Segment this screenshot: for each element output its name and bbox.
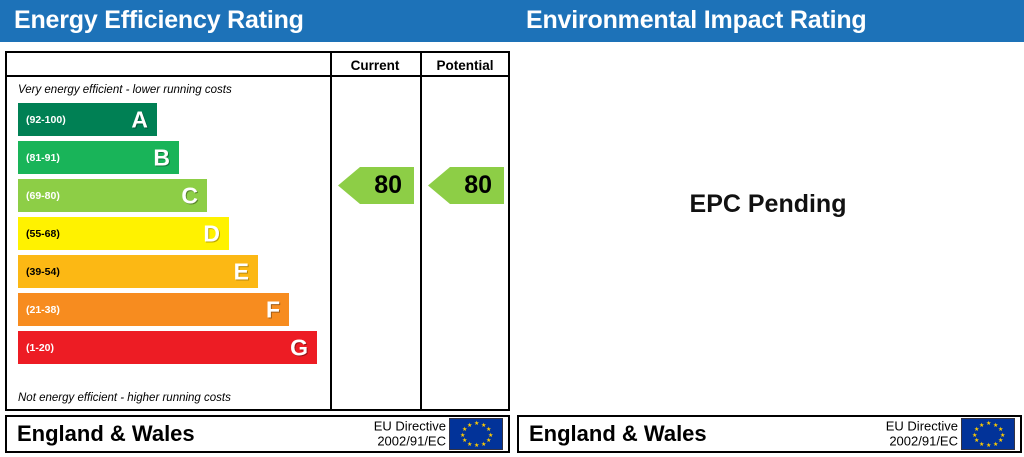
current-rating-arrow: 80 — [338, 167, 414, 204]
band-letter-c: C — [181, 184, 198, 207]
directive-line-1: EU Directive — [374, 419, 446, 434]
environmental-impact-panel: Environmental Impact Rating EPC Pending … — [512, 0, 1024, 457]
band-letter-e: E — [234, 260, 249, 283]
potential-rating-arrow: 80 — [428, 167, 504, 204]
column-header-current: Current — [330, 56, 420, 76]
footer-region-label-right: England & Wales — [529, 421, 707, 447]
band-range-b: (81-91) — [26, 152, 60, 164]
band-range-f: (21-38) — [26, 304, 60, 316]
eu-flag-icon: ★ ★ ★ ★ ★ ★ ★ ★ ★ ★ ★ ★ — [449, 418, 503, 450]
epc-certificate-graphic: Energy Efficiency Rating Current Potenti… — [0, 0, 1024, 457]
footer-region-label-left: England & Wales — [17, 421, 195, 447]
band-range-a: (92-100) — [26, 114, 66, 126]
energy-efficiency-header: Energy Efficiency Rating — [0, 0, 512, 42]
band-letter-b: B — [153, 146, 170, 169]
band-row-e: (39-54) E — [18, 255, 258, 288]
band-letter-a: A — [131, 108, 148, 131]
eu-flag-icon: ★ ★ ★ ★ ★ ★ ★ ★ ★ ★ ★ ★ — [961, 418, 1015, 450]
band-range-d: (55-68) — [26, 228, 60, 240]
band-letter-g: G — [290, 336, 308, 359]
environmental-impact-title: Environmental Impact Rating — [526, 6, 867, 35]
environmental-impact-header: Environmental Impact Rating — [512, 0, 1024, 42]
chart-divider-current — [330, 53, 332, 409]
directive-line-2: 2002/91/EC — [374, 434, 446, 449]
column-header-potential: Potential — [420, 56, 510, 76]
directive-line-1: EU Directive — [886, 419, 958, 434]
band-row-c: (69-80) C — [18, 179, 207, 212]
band-row-b: (81-91) B — [18, 141, 179, 174]
band-row-f: (21-38) F — [18, 293, 289, 326]
band-range-g: (1-20) — [26, 342, 54, 354]
footer-directive-right: EU Directive 2002/91/EC — [886, 419, 958, 448]
caption-not-efficient: Not energy efficient - higher running co… — [18, 392, 231, 404]
energy-efficiency-panel: Energy Efficiency Rating Current Potenti… — [0, 0, 512, 457]
band-letter-d: D — [203, 222, 220, 245]
footer-directive-left: EU Directive 2002/91/EC — [374, 419, 446, 448]
band-row-g: (1-20) G — [18, 331, 317, 364]
band-row-d: (55-68) D — [18, 217, 229, 250]
energy-efficiency-footer: England & Wales EU Directive 2002/91/EC … — [5, 415, 510, 453]
potential-rating-value: 80 — [464, 173, 504, 198]
band-range-c: (69-80) — [26, 190, 60, 202]
epc-pending-message: EPC Pending — [512, 190, 1024, 219]
band-letter-f: F — [266, 298, 280, 321]
environmental-impact-footer: England & Wales EU Directive 2002/91/EC … — [517, 415, 1022, 453]
energy-efficiency-chart: Current Potential Very energy efficient … — [5, 51, 510, 411]
current-rating-value: 80 — [374, 173, 414, 198]
directive-line-2: 2002/91/EC — [886, 434, 958, 449]
band-row-a: (92-100) A — [18, 103, 157, 136]
chart-divider-potential — [420, 53, 422, 409]
band-range-e: (39-54) — [26, 266, 60, 278]
energy-efficiency-title: Energy Efficiency Rating — [14, 6, 304, 35]
caption-very-efficient: Very energy efficient - lower running co… — [18, 84, 232, 96]
